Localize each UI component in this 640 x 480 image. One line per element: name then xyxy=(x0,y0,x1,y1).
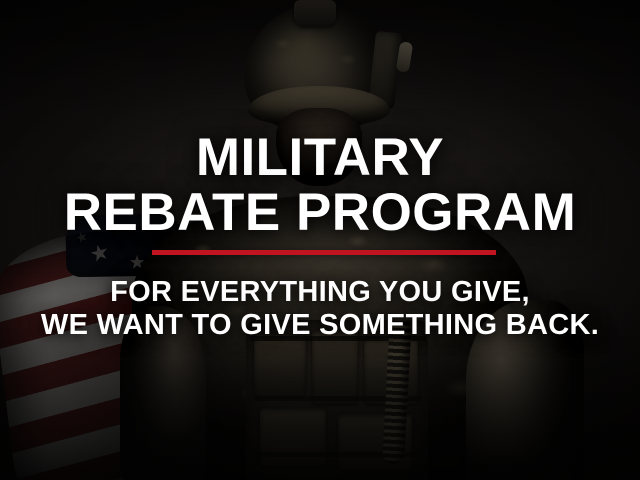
military-rebate-program-banner: MILITARY REBATE PROGRAM FOR EVERYTHING Y… xyxy=(0,0,640,480)
soldier-left-arm xyxy=(120,306,206,480)
background-photo xyxy=(0,0,640,480)
vest-pouch xyxy=(312,330,358,404)
vest-pouch xyxy=(254,334,306,396)
vest-pouch xyxy=(260,408,326,466)
nvg-mount-icon xyxy=(294,0,336,26)
soldier-right-arm xyxy=(466,300,584,480)
